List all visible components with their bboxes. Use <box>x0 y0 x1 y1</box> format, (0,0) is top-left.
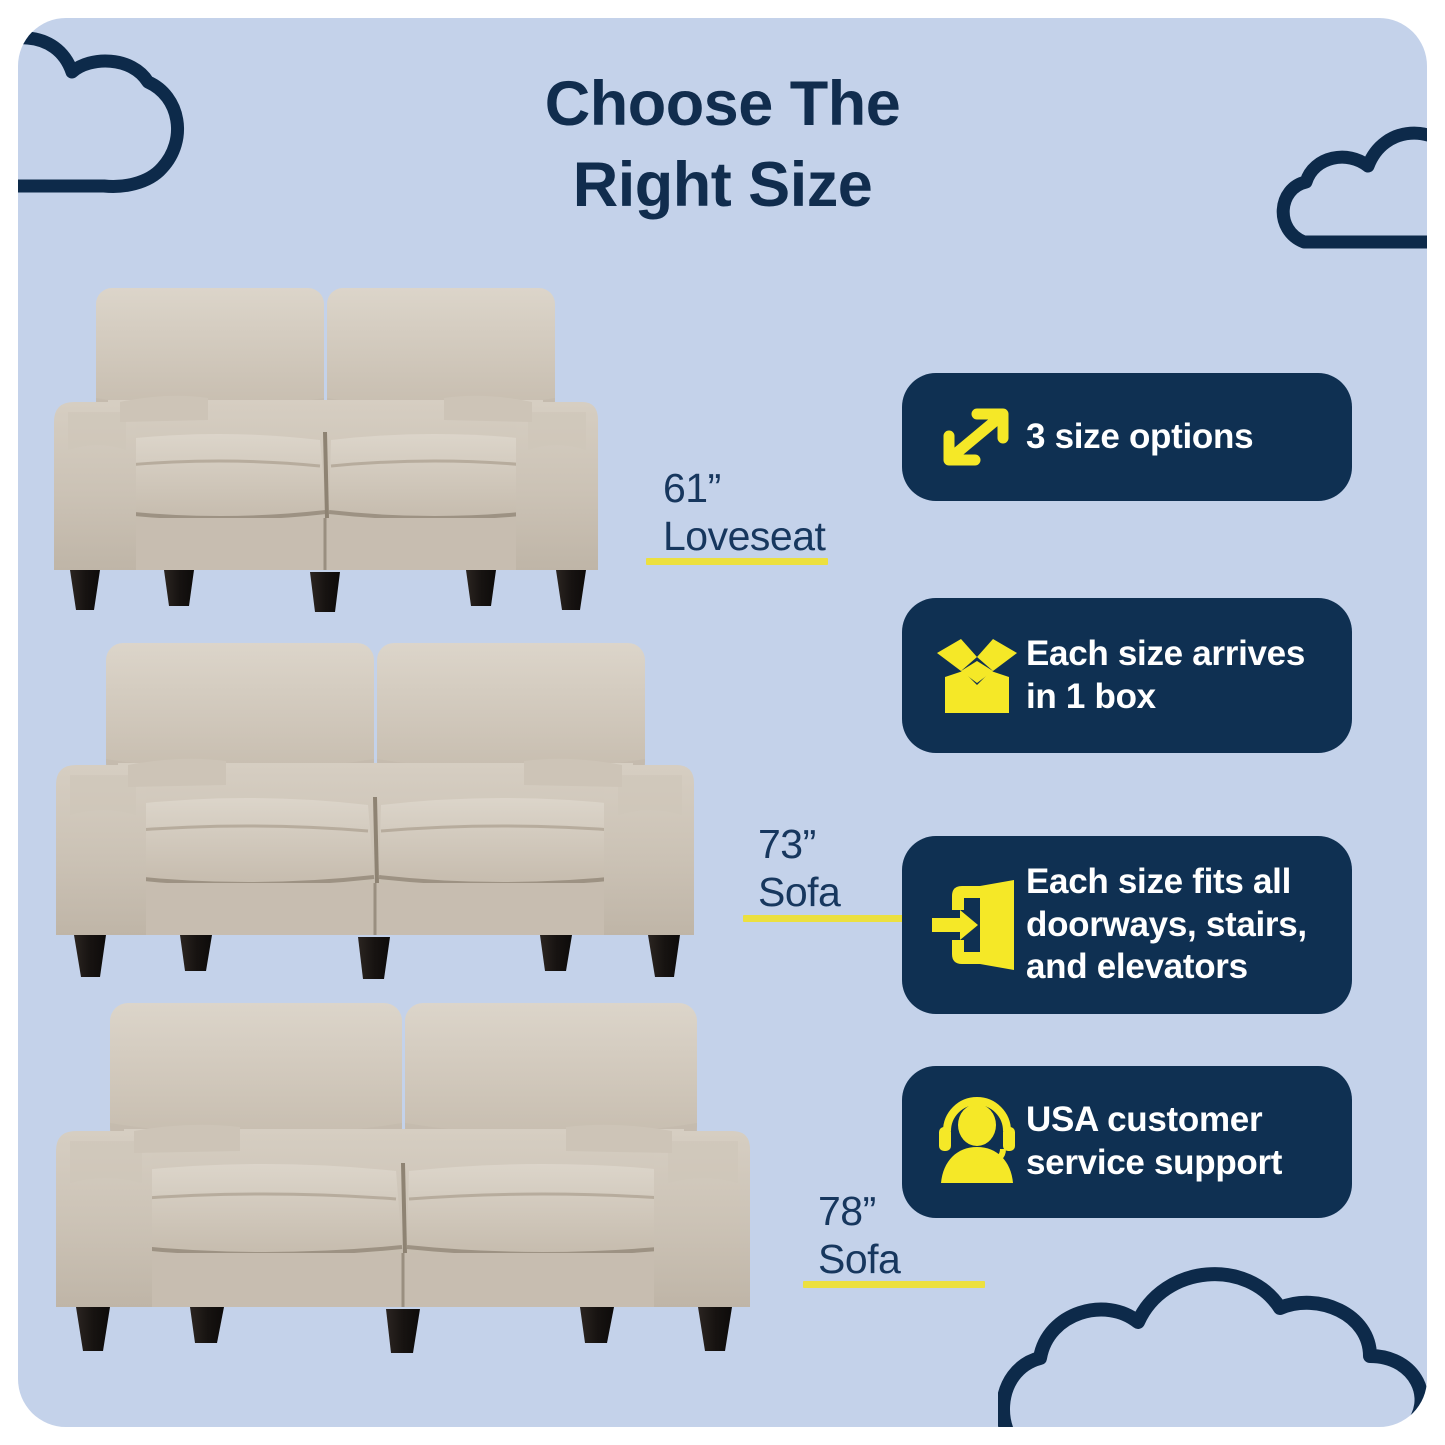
size-value: 78” <box>818 1188 876 1234</box>
size-value: 73” <box>758 821 816 867</box>
cloud-outline-icon <box>998 1260 1427 1427</box>
page-title: Choose The Right Size <box>18 64 1427 225</box>
feature-card-label: Each size fits all doorways, stairs, and… <box>1026 861 1307 989</box>
feature-card-one-box[interactable]: Each size arrives in 1 box <box>902 598 1352 753</box>
product-row-sofa-78: 78” Sofa <box>48 993 1008 1373</box>
feature-card-label: Each size arrives in 1 box <box>1026 633 1305 718</box>
sofa-medium-icon <box>48 633 748 1008</box>
size-name: Loveseat <box>663 513 825 559</box>
feature-card-label: USA customer service support <box>1026 1099 1282 1184</box>
sofa-large-icon <box>48 993 808 1378</box>
size-underline <box>646 558 828 565</box>
feature-card-customer-service[interactable]: USA customer service support <box>902 1066 1352 1218</box>
feature-card-label: 3 size options <box>1026 416 1253 459</box>
size-label-loveseat: 61” Loveseat <box>663 465 825 561</box>
size-value: 61” <box>663 465 721 511</box>
size-underline <box>743 915 925 922</box>
size-name: Sofa <box>758 869 840 915</box>
feature-card-fits-doorways[interactable]: Each size fits all doorways, stairs, and… <box>902 836 1352 1014</box>
resize-arrows-icon <box>928 398 1026 476</box>
size-underline <box>803 1281 985 1288</box>
product-row-loveseat: 61” Loveseat <box>48 280 848 640</box>
infographic-panel: Choose The Right Size <box>18 18 1427 1427</box>
size-name: Sofa <box>818 1236 900 1282</box>
doorway-entry-icon <box>928 875 1026 975</box>
title-line-2: Right Size <box>18 145 1427 226</box>
product-row-sofa-73: 73” Sofa <box>48 633 928 1003</box>
headset-support-icon <box>928 1096 1026 1188</box>
feature-card-size-options[interactable]: 3 size options <box>902 373 1352 501</box>
size-label-sofa-73: 73” Sofa <box>758 821 840 917</box>
sofa-loveseat-icon <box>48 280 658 645</box>
open-box-icon <box>928 630 1026 722</box>
infographic-stage: Choose The Right Size <box>0 0 1445 1445</box>
title-line-1: Choose The <box>545 69 901 139</box>
size-label-sofa-78: 78” Sofa <box>818 1188 900 1284</box>
